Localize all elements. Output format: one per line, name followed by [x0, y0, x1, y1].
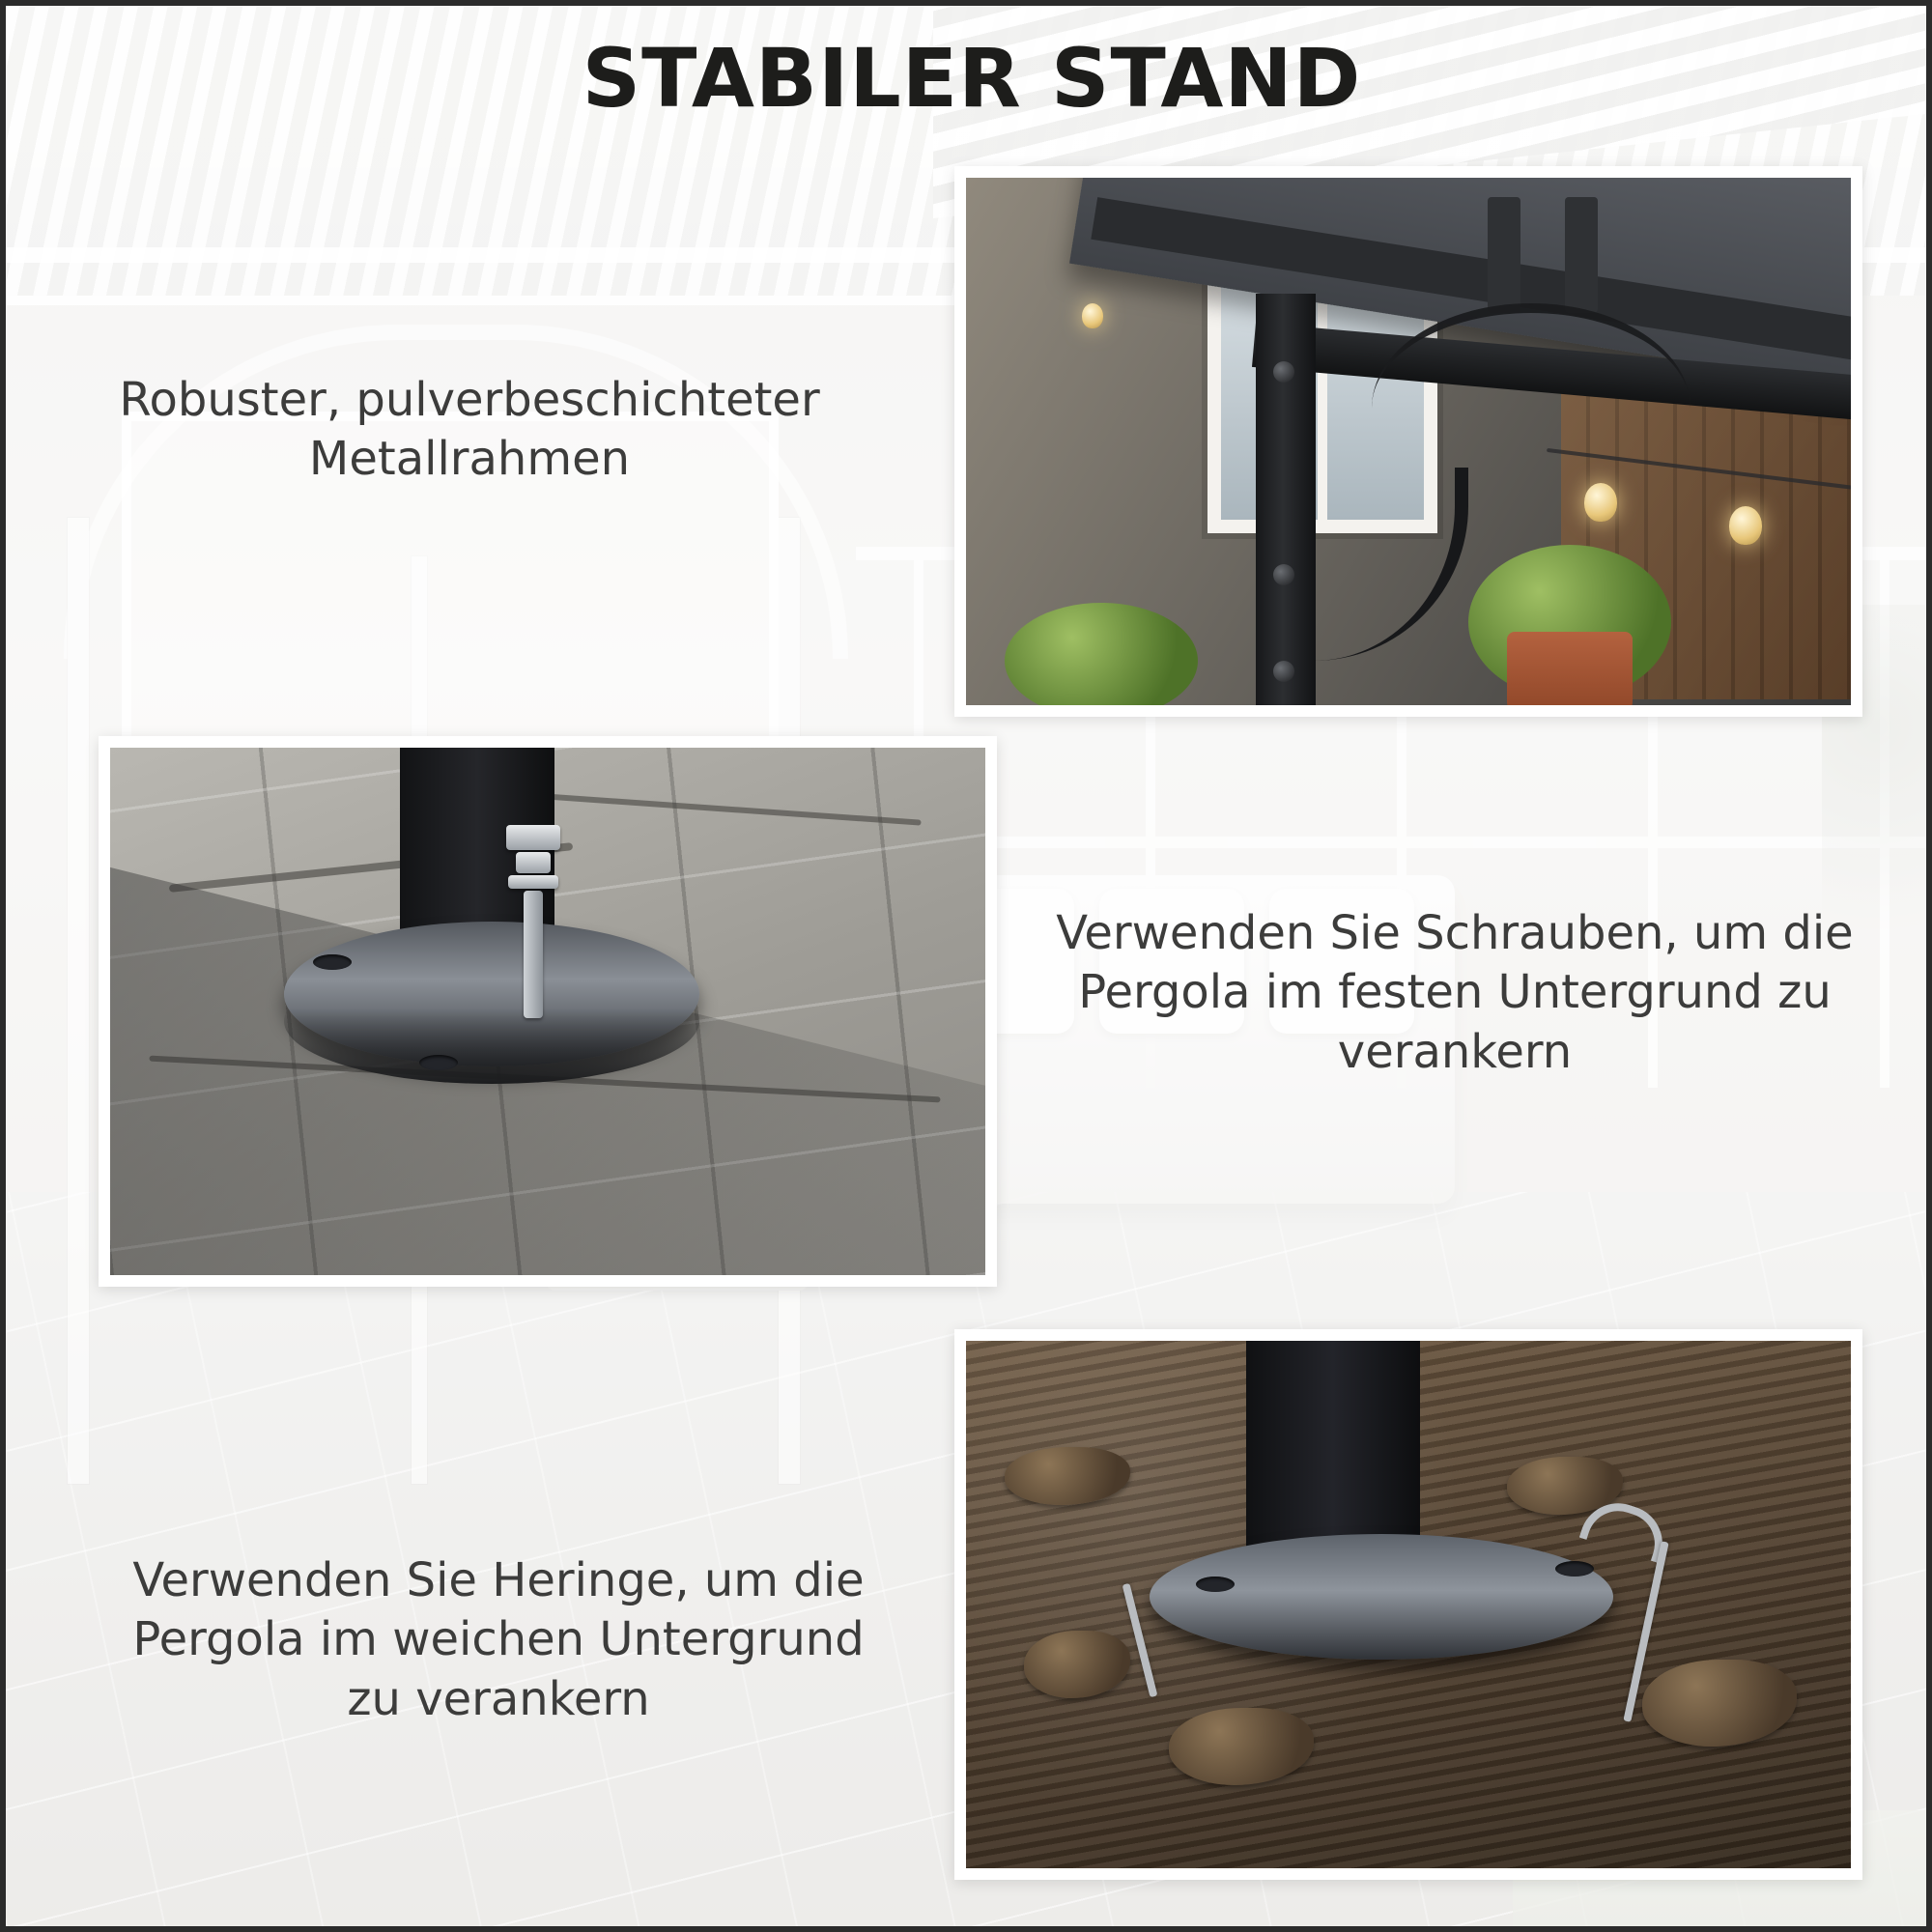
photo-pergola-corner — [954, 166, 1862, 717]
bolt-icon — [1273, 361, 1294, 383]
photo-base-plate-in-soil-content — [966, 1341, 1851, 1868]
light-bulb-icon — [1082, 303, 1103, 328]
caption-use-screws: Verwenden Sie Schrauben, um die Pergola … — [1030, 904, 1880, 1082]
photo-pergola-corner-content — [966, 178, 1851, 705]
base-plate-hole — [1196, 1577, 1235, 1592]
base-plate-hole — [419, 1055, 458, 1070]
bolt-icon — [1273, 661, 1294, 682]
light-bulb-icon — [1584, 483, 1617, 522]
photo-base-plate-on-paving — [99, 736, 997, 1287]
caption-metal-frame: Robuster, pulverbeschichteter Metallrahm… — [64, 371, 875, 490]
photo-base-plate-in-soil — [954, 1329, 1862, 1880]
plant-pot — [1507, 632, 1633, 705]
photo-base-plate-on-paving-content — [110, 748, 985, 1275]
light-bulb-icon — [1729, 506, 1762, 545]
base-plate-rim — [284, 958, 699, 1084]
bolt-icon — [1273, 564, 1294, 585]
anchor-bolt — [506, 825, 560, 1018]
base-plate-hole — [1555, 1561, 1594, 1577]
caption-use-pegs: Verwenden Sie Heringe, um die Pergola im… — [112, 1551, 885, 1729]
base-plate — [1150, 1534, 1613, 1660]
promo-image: STABILER STAND — [0, 0, 1932, 1932]
page-title: STABILER STAND — [6, 31, 1932, 126]
base-plate-hole — [313, 954, 352, 970]
canopy-strap — [1488, 197, 1520, 313]
canopy-strap — [1565, 197, 1598, 313]
